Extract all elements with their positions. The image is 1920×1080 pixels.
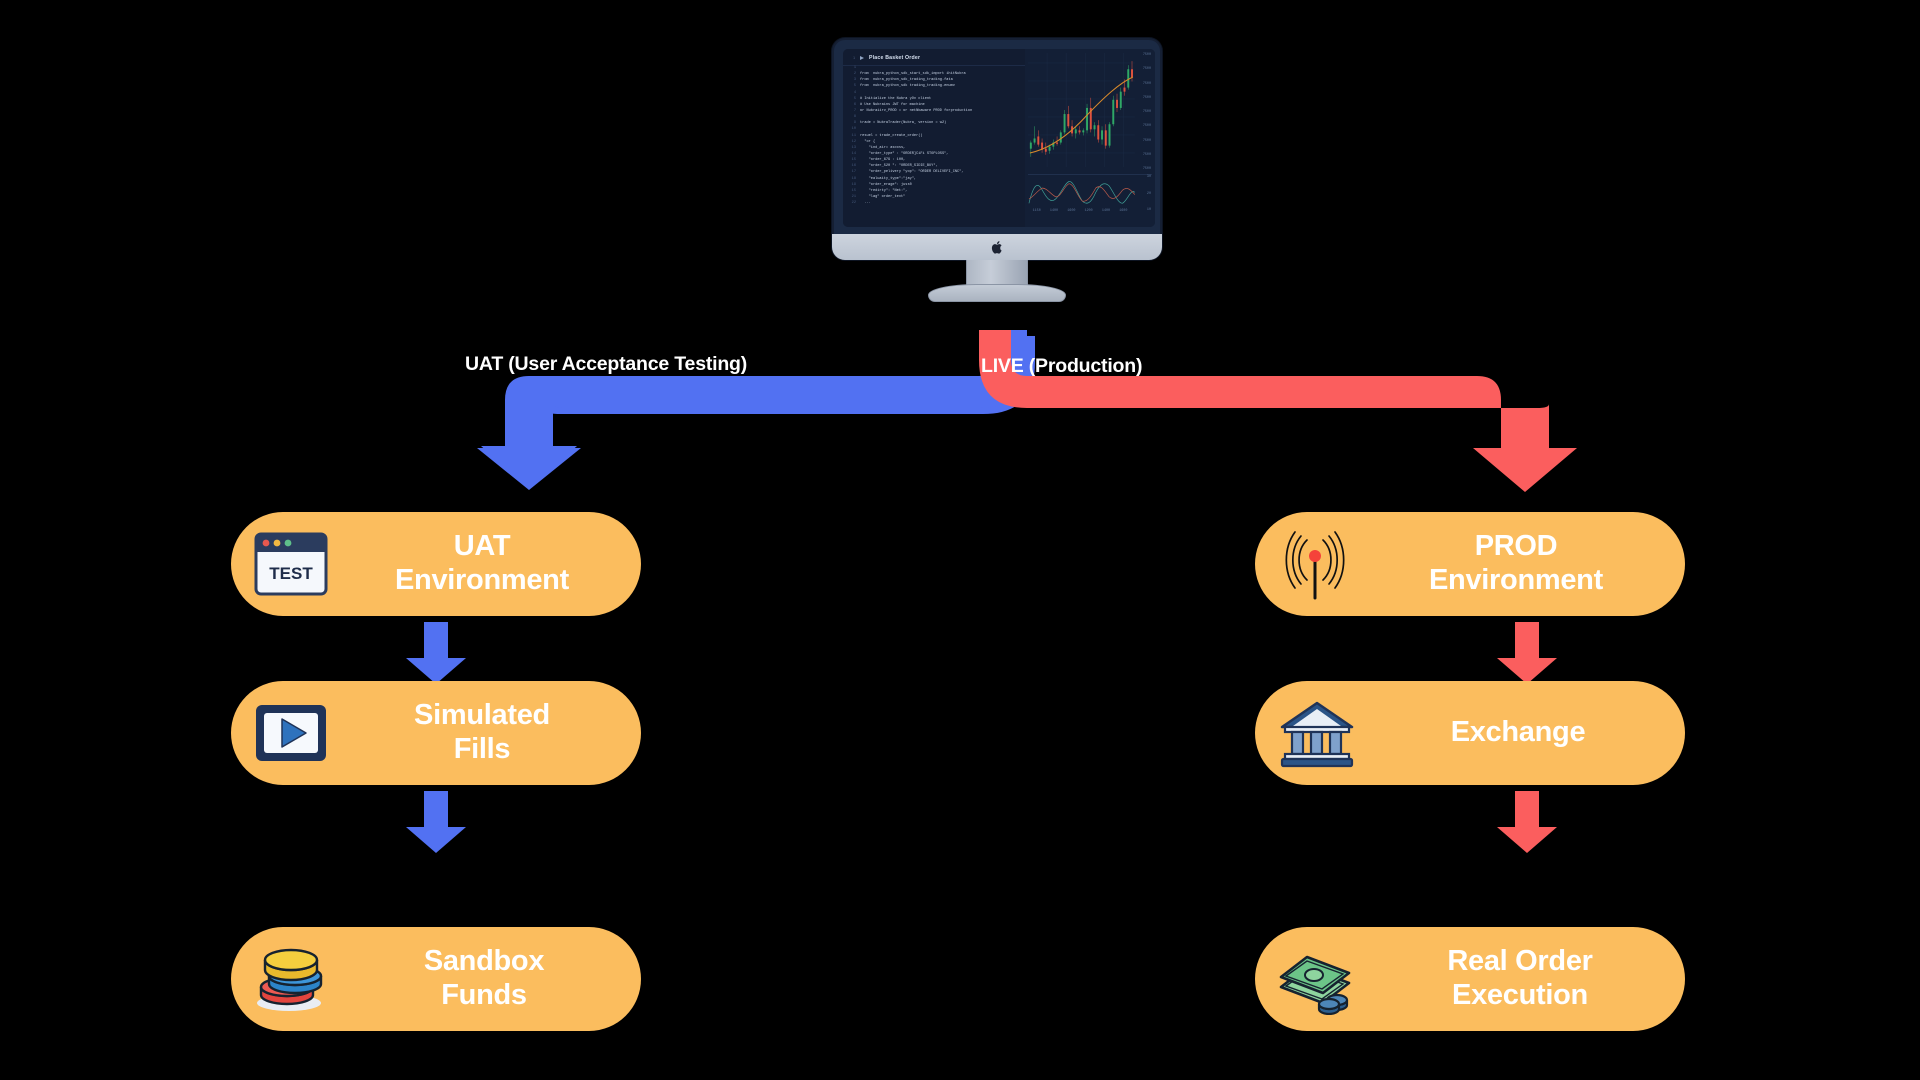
y-tick: 7500: [1134, 53, 1151, 57]
x-tick: 1600: [1119, 209, 1127, 213]
y-tick: 10: [1134, 208, 1151, 212]
node-prod-environment[interactable]: PROD Environment: [1255, 512, 1685, 616]
y-tick: 30: [1134, 175, 1151, 179]
code-text: from nubra_python_sdk trading_trading.en…: [860, 84, 955, 88]
play-button-icon: [253, 702, 329, 764]
code-text: "order_520 ": "ORDER_SIDIE_BUY",: [860, 164, 938, 168]
x-tick: 1400: [1050, 209, 1058, 213]
x-tick: 1150: [1033, 209, 1041, 213]
node-real-order-execution[interactable]: Real Order Execution: [1255, 927, 1685, 1031]
line-number: 5: [847, 97, 856, 101]
arrow-uat-to-simulated-fills: [402, 622, 470, 684]
line-number: 3: [847, 78, 856, 82]
arrow-exchange-to-real-order: [1493, 791, 1561, 853]
imac-monitor: 1 Place Basket Order 12from nubra_python…: [832, 38, 1162, 323]
node-label: Exchange: [1369, 716, 1667, 750]
line-number: 1: [847, 56, 855, 60]
line-number: 21: [847, 195, 856, 199]
code-text: # Use Nubrains JWT for machine: [860, 103, 925, 107]
code-text: "order_type" : "ORDER]CiFi STOPLOSS",: [860, 152, 948, 156]
y-tick: 7500: [1134, 82, 1151, 86]
code-text: or Nubraiirv_PROD = or netNbaware PROD f…: [860, 109, 972, 113]
live-branch-label: LIVE (Production): [981, 355, 1142, 378]
run-icon[interactable]: [860, 56, 864, 60]
live-branch-arrow: LIVE (Production): [1003, 330, 1563, 495]
y-tick: 7500: [1134, 167, 1151, 171]
code-text: "or {: [860, 140, 875, 144]
x-tick: 1400: [1102, 209, 1110, 213]
diagram-canvas: 1 Place Basket Order 12from nubra_python…: [0, 0, 1920, 1080]
line-number: 11: [847, 134, 856, 138]
monitor-screen: 1 Place Basket Order 12from nubra_python…: [843, 49, 1155, 227]
broadcast-antenna-icon: [1277, 528, 1353, 600]
oscillator-panel: 30 20 10 1150 1400 1600 1200 1400 1600: [1028, 174, 1152, 212]
bank-building-icon: [1277, 697, 1357, 769]
line-number: 9: [847, 121, 856, 125]
monitor-foot: [928, 284, 1066, 302]
moving-average-line: [1030, 77, 1133, 153]
chart-y-axis: 7500 7500 7500 7500 7500 7500 7500 7500 …: [1134, 53, 1151, 171]
line-number: 6: [847, 103, 856, 107]
browser-test-window-icon: TEST: [253, 531, 329, 597]
y-tick: 7500: [1134, 153, 1151, 157]
uat-branch-label: UAT (User Acceptance Testing): [465, 353, 747, 376]
code-text: "order_erage": juss0: [860, 183, 912, 187]
line-number: 12: [847, 140, 856, 144]
line-number: 13: [847, 146, 856, 150]
node-simulated-fills[interactable]: Simulated Fills: [231, 681, 641, 785]
line-number: 2: [847, 72, 856, 76]
line-number: 22: [847, 201, 856, 205]
node-label: UAT Environment: [341, 530, 623, 597]
node-label: Sandbox Funds: [345, 945, 623, 1012]
node-uat-environment[interactable]: TEST UAT Environment: [231, 512, 641, 616]
code-text: "lag" order_text": [860, 195, 905, 199]
line-number: 7: [847, 109, 856, 113]
line-number: 15: [847, 158, 856, 162]
coin-stack-icon: [253, 943, 333, 1015]
x-tick: 1600: [1067, 209, 1075, 213]
y-tick: 7500: [1134, 96, 1151, 100]
code-text: "order_pelivery "yop": "ORDER DELIVEFI_C…: [860, 170, 964, 174]
arrow-simulated-fills-to-sandbox: [402, 791, 470, 853]
line-number: 17: [847, 170, 856, 174]
code-lines: 12from nubra_python_sdk_start_sdk_import…: [843, 66, 1025, 207]
line-number: 14: [847, 152, 856, 156]
line-number: 16: [847, 164, 856, 168]
line-number: 19: [847, 183, 856, 187]
node-label: PROD Environment: [1365, 530, 1667, 597]
y-tick: 7500: [1134, 67, 1151, 71]
down-arrow-icon: [1493, 622, 1561, 684]
candlestick-chart: 7500 7500 7500 7500 7500 7500 7500 7500 …: [1028, 53, 1152, 171]
code-text: "ind_air= ascoss,: [860, 146, 905, 150]
code-line: 22 ...: [843, 201, 1025, 207]
code-text: from nubra_python_sdk_trading_trading.fa…: [860, 78, 953, 82]
code-editor-pane[interactable]: 1 Place Basket Order 12from nubra_python…: [843, 49, 1025, 227]
line-number: 4: [847, 91, 856, 95]
node-exchange[interactable]: Exchange: [1255, 681, 1685, 785]
svg-text:TEST: TEST: [269, 564, 313, 583]
down-arrow-icon: [1493, 791, 1561, 853]
line-number: 18: [847, 177, 856, 181]
node-label: Simulated Fills: [341, 699, 623, 766]
code-text: "order_679 : 100,: [860, 158, 905, 162]
y-tick: 7500: [1134, 110, 1151, 114]
y-tick: 7500: [1134, 124, 1151, 128]
line-number: 10: [847, 127, 856, 131]
y-tick: 20: [1134, 192, 1151, 196]
node-sandbox-funds[interactable]: Sandbox Funds: [231, 927, 641, 1031]
monitor-chin: [832, 234, 1162, 260]
code-text: trade = NubraTrader(Nubra_ version = w2): [860, 121, 946, 125]
line-number: 15: [847, 189, 856, 193]
chart-x-axis: 1150 1400 1600 1200 1400 1600: [1028, 209, 1132, 213]
node-label: Real Order Execution: [1373, 945, 1667, 1012]
down-arrow-icon: [402, 622, 470, 684]
down-arrow-icon: [402, 791, 470, 853]
code-text: from nubra_python_sdk_start_sdk_import i…: [860, 72, 966, 76]
osc-line-teal: [1029, 181, 1135, 203]
cash-money-icon: [1277, 943, 1361, 1015]
x-tick: 1200: [1085, 209, 1093, 213]
osc-line-red: [1029, 184, 1135, 202]
y-tick: 7500: [1134, 139, 1151, 143]
oscillator-y-axis: 30 20 10: [1134, 175, 1151, 212]
line-number: 5: [847, 84, 856, 88]
code-text: "ealuaity_type":"jay",: [860, 177, 916, 181]
arrow-prod-to-exchange: [1493, 622, 1561, 684]
code-text: resuel = trade_create_order(): [860, 134, 923, 138]
line-number: 1: [847, 66, 856, 70]
editor-title-bar: 1 Place Basket Order: [843, 54, 1025, 66]
chart-pane: 7500 7500 7500 7500 7500 7500 7500 7500 …: [1025, 49, 1155, 227]
line-number: 8: [847, 115, 856, 119]
code-text: "redirty": "Net:",: [860, 189, 907, 193]
uat-branch-arrow: UAT (User Acceptance Testing): [443, 330, 1003, 490]
editor-title: Place Basket Order: [869, 55, 920, 61]
code-text: ...: [860, 201, 871, 205]
apple-logo-icon: [991, 240, 1004, 255]
code-text: # Initialize the Nubra yOv client: [860, 97, 931, 101]
monitor-bezel: 1 Place Basket Order 12from nubra_python…: [832, 38, 1162, 260]
